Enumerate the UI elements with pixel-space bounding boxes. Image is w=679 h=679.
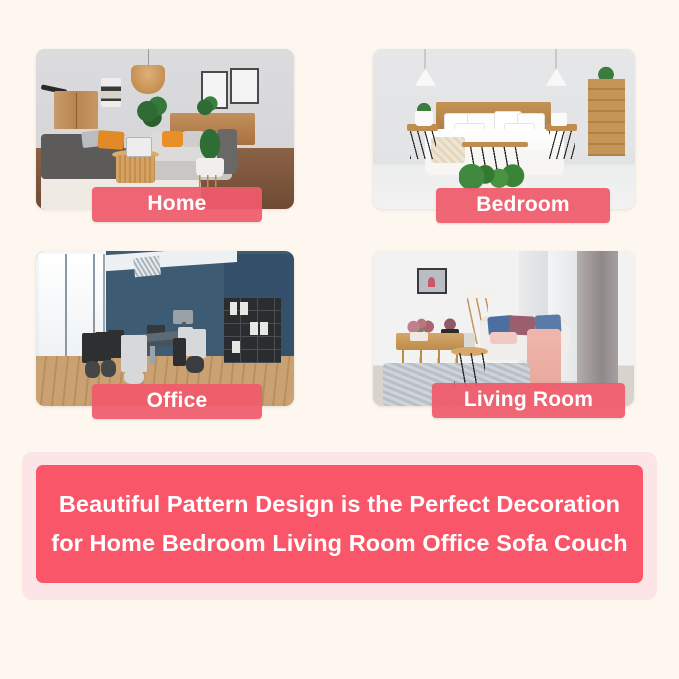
- room-label-home[interactable]: Home: [92, 187, 262, 222]
- room-label-living-room[interactable]: Living Room: [432, 383, 625, 418]
- room-card-bedroom[interactable]: Bedroom: [373, 49, 635, 209]
- room-card-office[interactable]: Office: [36, 251, 294, 406]
- promo-banner-text: Beautiful Pattern Design is the Perfect …: [43, 485, 635, 563]
- wall-art-icon: [417, 268, 447, 294]
- scene-home-living-room: [36, 49, 294, 209]
- scene-office-conference-room: [36, 251, 294, 406]
- product-feature-graphic: Home: [0, 0, 679, 679]
- pendant-lamp-icon: [415, 68, 436, 86]
- pendant-lamp-icon: [131, 65, 165, 94]
- ceiling-light-icon: [133, 256, 161, 277]
- room-card-living-room[interactable]: Living Room: [373, 251, 634, 406]
- promo-banner-inner: Beautiful Pattern Design is the Perfect …: [36, 465, 643, 583]
- pendant-lamp-icon: [546, 68, 567, 86]
- room-label-bedroom[interactable]: Bedroom: [436, 188, 610, 223]
- room-label-office[interactable]: Office: [92, 384, 262, 419]
- room-photo-home: [36, 49, 294, 209]
- room-photo-office: [36, 251, 294, 406]
- promo-banner: Beautiful Pattern Design is the Perfect …: [22, 452, 657, 600]
- room-photo-bedroom: [373, 49, 635, 209]
- room-card-grid: Home: [0, 0, 679, 430]
- room-card-home[interactable]: Home: [36, 49, 294, 209]
- scene-bedroom: [373, 49, 635, 209]
